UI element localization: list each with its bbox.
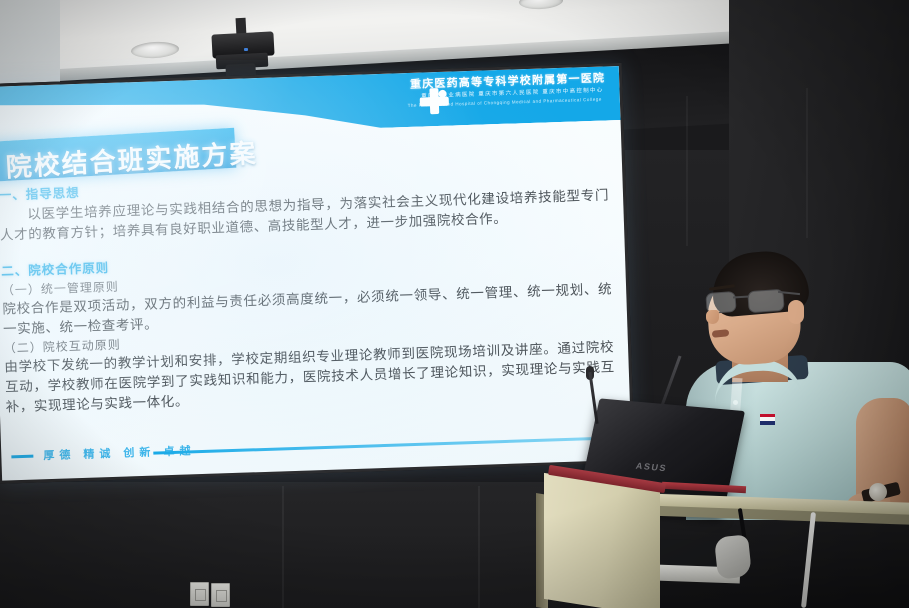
wall-panel-seam [282, 486, 284, 608]
footer-rule [153, 436, 623, 455]
footer-dash-mark [11, 455, 33, 459]
slide-content: 重庆医药高等专科学校附属第一医院 重庆市职业病医院 重庆市第六人民医院 重庆市中… [0, 66, 632, 481]
presenter-nose [706, 310, 719, 324]
presenter-ear [788, 300, 804, 324]
slide-footer: 厚德 精诚 创新 卓越 [1, 428, 631, 467]
presenter-shirt-button [733, 400, 738, 405]
lectern [544, 473, 660, 608]
wall-seam [806, 88, 808, 238]
camera-status-led-icon [244, 48, 248, 51]
slide-body: 一、指导思想 以医学生培养应理论与实践相结合的思想为指导，为落实社会主义现代化建… [0, 164, 616, 417]
wall-seam [686, 96, 688, 246]
lower-wall-panel [0, 482, 560, 608]
wall-outlet[interactable] [190, 582, 209, 606]
wall-outlet[interactable] [211, 583, 230, 607]
projection-screen: 重庆医药高等专科学校附属第一医院 重庆市职业病医院 重庆市第六人民医院 重庆市中… [0, 63, 635, 484]
tommy-flag-logo-icon [760, 414, 775, 425]
medical-cross-logo-icon [419, 88, 450, 115]
wall-panel-seam [478, 486, 480, 608]
presentation-room-photo: 重庆医药高等专科学校附属第一医院 重庆市职业病医院 重庆市第六人民医院 重庆市中… [0, 0, 909, 608]
